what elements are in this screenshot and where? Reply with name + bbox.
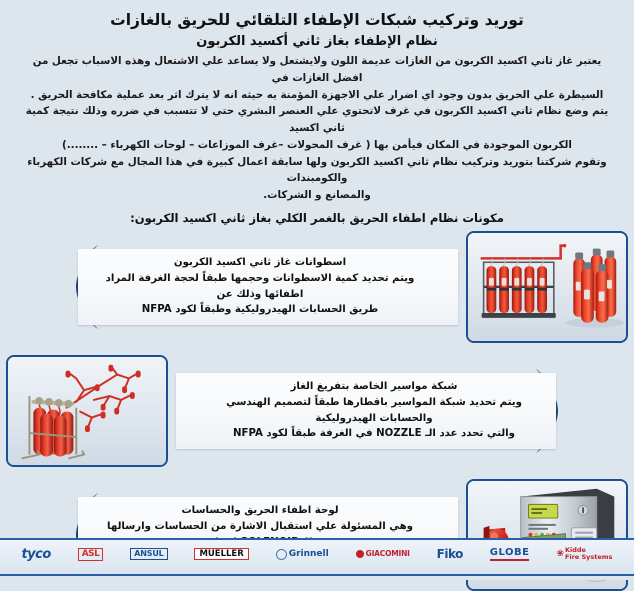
logo-mueller: MUELLER [194,548,248,561]
logo-kidde-label2: Fire Systems [565,553,613,561]
logo-giacomini-label: GIACOMINI [366,550,410,558]
pipe-network-illustration [8,357,166,466]
logo-grinnell-label: Grinnell [289,550,329,559]
intro-line-1: يعتبر غاز ثاني اكسيد الكربون من الغازات … [20,53,614,86]
pipe-network-image [6,355,168,467]
components-list: اسطوانات غاز ثاني اكسيد الكربون ويتم تحد… [0,231,634,591]
component-row-piping: شبكة مواسير الخاصة بتفريغ الغاز ويتم تحد… [0,355,634,467]
component-banner-piping: شبكة مواسير الخاصة بتفريغ الغاز ويتم تحد… [176,373,556,449]
components-heading: مكونات نظام اطفاء الحريق بالغمر الكلي بغ… [14,211,620,225]
logo-asl: ASL [78,548,104,561]
logo-giacomini: GIACOMINI [356,550,410,558]
intro-line-5: وتقوم شركتنا بتوريد وتركيب نظام ثاني اكس… [20,154,614,187]
page-title: توريد وتركيب شبكات الإطفاء التلقائي للحر… [14,10,620,31]
component-banner-cylinders: اسطوانات غاز ثاني اكسيد الكربون ويتم تحد… [78,249,458,325]
intro-paragraphs: يعتبر غاز ثاني اكسيد الكربون من الغازات … [14,53,620,203]
logo-ansul: ANSUL [130,548,167,560]
intro-line-6: والمصانع و الشركات. [20,187,614,204]
component-desc-cylinders-2: طريق الحسابات الهيدروليكية وطبقاً لكود N… [92,302,428,318]
infographic-page: توريد وتركيب شبكات الإطفاء التلقائي للحر… [0,0,634,576]
header: توريد وتركيب شبكات الإطفاء التلقائي للحر… [0,0,634,225]
component-desc-piping-1: ويتم تحديد شبكة المواسير باقطارها طبقاً … [206,395,542,427]
page-subtitle: نظام الإطفاء بغاز ثاني أكسيد الكربون [14,33,620,51]
component-title-control-panel: لوحة اطفاء الحريق والحساسات [92,503,428,519]
component-title-cylinders: اسطوانات غاز ثاني اكسيد الكربون [92,255,428,271]
co2-cylinder-bank-illustration [468,233,626,342]
intro-line-2: السيطرة علي الحريق بدون وجود اي اضرار عل… [20,87,614,104]
logo-grinnell: Grinnell [276,549,329,560]
component-desc-cylinders-1: ويتم تحديد كمية الاسطوانات وحجمها طبقاً … [92,271,428,303]
logo-kidde-text: KiddeFire Systems [565,547,613,562]
logo-globe: GLOBE [490,548,530,561]
intro-line-3: يتم وضع نظام ثاني اكسيد الكربون في غرف ل… [20,103,614,136]
logo-fiko: Fiko [437,548,463,560]
logo-tyco: tyco [21,548,50,561]
giacomini-mark-icon [356,550,364,558]
partner-logo-bar: tyco ASL ANSUL MUELLER Grinnell GIACOMIN… [0,538,634,576]
intro-line-4: الكربون الموجودة في المكان فيأمن بها ( غ… [20,137,614,154]
logo-kidde: ❀KiddeFire Systems [556,547,612,562]
component-desc-piping-2: والتي تحدد عدد الـ NOZZLE في الغرفة طبقا… [206,426,542,442]
component-title-piping: شبكة مواسير الخاصة بتفريغ الغاز [206,379,542,395]
component-row-cylinders: اسطوانات غاز ثاني اكسيد الكربون ويتم تحد… [0,231,634,343]
flame-icon: ❀ [556,549,564,559]
co2-cylinder-bank-image [466,231,628,343]
grinnell-mark-icon [276,549,287,560]
